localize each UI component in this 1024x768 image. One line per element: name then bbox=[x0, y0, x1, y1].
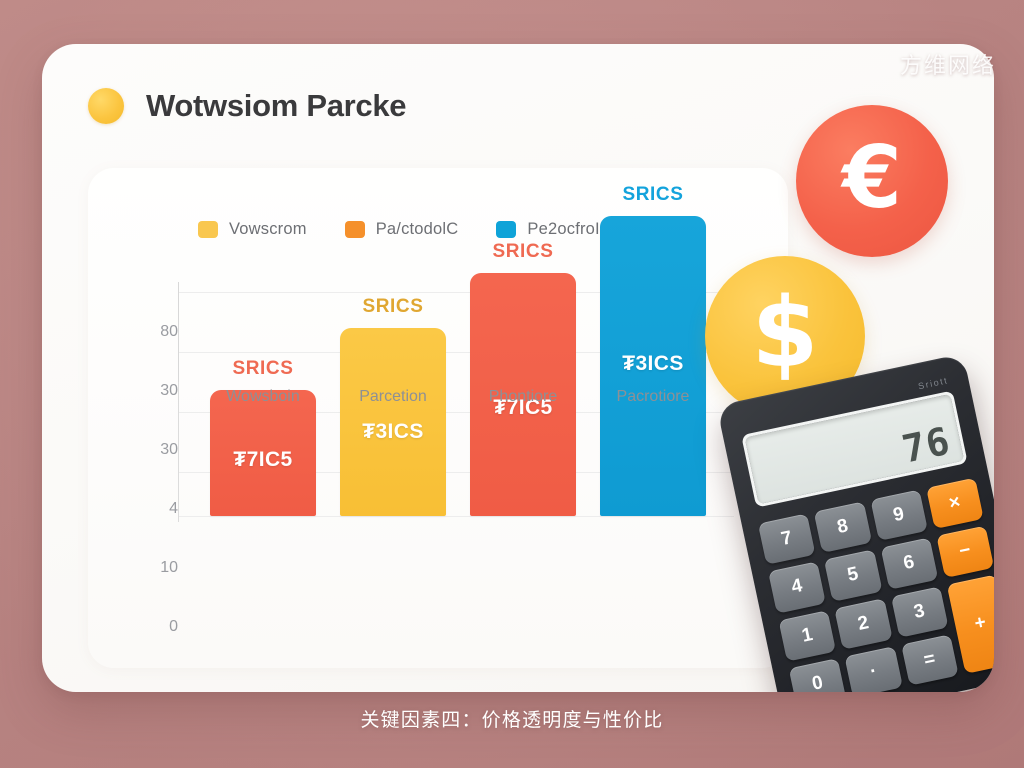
calculator-key-multiply[interactable]: × bbox=[926, 478, 984, 530]
bar-top-label: SRICS bbox=[210, 358, 316, 380]
x-tick-label: Parcetion bbox=[328, 388, 458, 406]
bar-top-label: SRICS bbox=[600, 184, 706, 206]
calculator-key-minus[interactable]: − bbox=[936, 526, 994, 578]
card-header: Wotwsiom Parcke bbox=[88, 88, 406, 124]
calculator-key-8[interactable]: 8 bbox=[814, 501, 872, 553]
calculator-key-6[interactable]: 6 bbox=[880, 538, 938, 590]
plot-area: 80 30 30 4 10 0 SRICS ₮7IC5 Wowsboin SRI… bbox=[88, 168, 788, 668]
calculator-key-1[interactable]: 1 bbox=[778, 610, 836, 662]
calculator-key-7[interactable]: 7 bbox=[758, 513, 816, 565]
calculator-key-3[interactable]: 3 bbox=[890, 586, 948, 638]
calculator-key-5[interactable]: 5 bbox=[824, 550, 882, 602]
y-tick-label: 30 bbox=[122, 441, 178, 459]
chart-panel: Vowscrom Pa/ctodolC Pe2ocfroIC bbox=[88, 168, 788, 668]
calculator-key-0[interactable]: 0 bbox=[789, 658, 847, 692]
dollar-symbol: $ bbox=[752, 285, 819, 381]
y-tick-label: 4 bbox=[122, 500, 178, 518]
bar-top-label: SRICS bbox=[340, 296, 446, 318]
watermark: 方维网络 bbox=[900, 48, 996, 80]
calculator-key-2[interactable]: 2 bbox=[834, 598, 892, 650]
bar-group: SRICS ₮7IC5 Wowsboin SRICS ₮3ICS Parceti… bbox=[178, 168, 734, 668]
y-tick-label: 30 bbox=[122, 382, 178, 400]
bar-value-label: ₮7IC5 bbox=[210, 448, 316, 472]
slide-stage: 方维网络 Wotwsiom Parcke Vowscrom Pa/ctodolC… bbox=[0, 0, 1024, 768]
bar-value-label: ₮3ICS bbox=[600, 352, 706, 376]
x-tick-label: Wowsboin bbox=[198, 388, 328, 406]
page-title: Wotwsiom Parcke bbox=[146, 88, 406, 124]
calculator-display-value: 76 bbox=[899, 421, 954, 468]
y-tick-label: 10 bbox=[122, 559, 178, 577]
euro-coin-icon: € bbox=[796, 105, 948, 257]
y-tick-label: 80 bbox=[122, 323, 178, 341]
bar-value-label: ₮3ICS bbox=[340, 420, 446, 444]
chart-card: Wotwsiom Parcke Vowscrom Pa/ctodolC Pe2o… bbox=[42, 44, 994, 692]
x-tick-label: Phontiore bbox=[458, 388, 588, 406]
yellow-dot-icon bbox=[88, 88, 124, 124]
calculator-key-9[interactable]: 9 bbox=[870, 490, 928, 542]
bar-top-label: SRICS bbox=[470, 241, 576, 263]
x-tick-label: Pacrotiore bbox=[588, 388, 718, 406]
calculator-key-decimal[interactable]: · bbox=[845, 646, 903, 692]
euro-symbol: € bbox=[842, 135, 902, 221]
slide-caption: 关键因素四：价格透明度与性价比 bbox=[0, 705, 1024, 732]
y-tick-label: 0 bbox=[122, 618, 178, 636]
calculator-key-4[interactable]: 4 bbox=[768, 561, 826, 613]
